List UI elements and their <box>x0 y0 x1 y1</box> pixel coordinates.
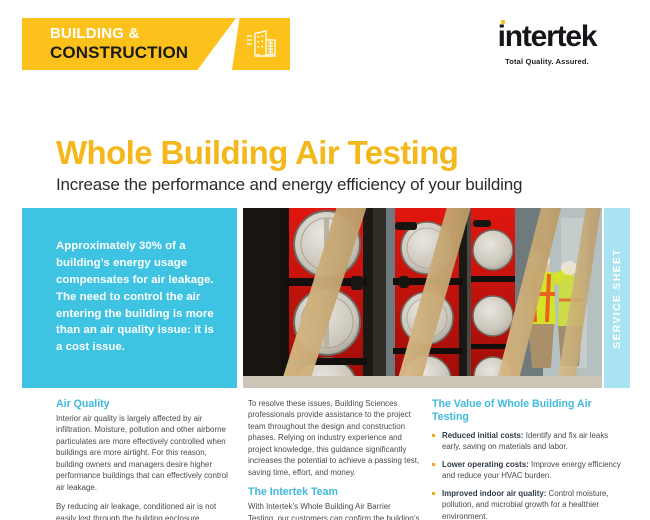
brand-line-2: CONSTRUCTION <box>50 43 236 62</box>
logo-tagline: Total Quality. Assured. <box>472 57 622 66</box>
column-1-paragraph-1: Interior air quality is largely affected… <box>56 413 236 493</box>
blower-door-photo-illustration <box>243 208 602 388</box>
column-1-paragraph-2: By reducing air leakage, conditioned air… <box>56 501 236 520</box>
content-columns: Air Quality Interior air quality is larg… <box>0 398 650 520</box>
page-title-block: Whole Building Air Testing Increase the … <box>56 136 616 194</box>
page-subtitle: Increase the performance and energy effi… <box>56 175 616 195</box>
value-bullet-item: Improved indoor air quality: Control moi… <box>432 488 622 520</box>
brand-line-1: BUILDING & <box>50 26 236 43</box>
column-intertek-team: To resolve these issues, Building Scienc… <box>248 398 432 520</box>
intertek-logo: intertek Total Quality. Assured. <box>472 22 622 66</box>
brand-banner: BUILDING & CONSTRUCTION <box>22 18 236 70</box>
column-2-heading: The Intertek Team <box>248 486 420 499</box>
hero-photo <box>243 208 602 388</box>
value-bullet-label: Lower operating costs: <box>442 460 529 469</box>
value-bullet-item: Lower operating costs: Improve energy ef… <box>432 459 622 482</box>
service-sheet-page: BUILDING & CONSTRUCTION <box>0 0 650 520</box>
feature-band: Approximately 30% of a building’s energy… <box>0 208 650 388</box>
column-air-quality: Air Quality Interior air quality is larg… <box>56 398 248 520</box>
page-header: BUILDING & CONSTRUCTION <box>0 0 650 92</box>
value-bullet-label: Improved indoor air quality: <box>442 489 546 498</box>
callout-text: Approximately 30% of a building’s energy… <box>56 238 219 356</box>
logo-dot-icon <box>501 20 505 24</box>
value-bullet-list: Reduced initial costs: Identify and fix … <box>432 430 622 520</box>
service-sheet-label: SERVICE SHEET <box>612 248 623 349</box>
logo-wordmark: intertek <box>498 20 597 53</box>
value-bullet-label: Reduced initial costs: <box>442 431 524 440</box>
column-value: The Value of Whole Building Air Testing … <box>432 398 622 520</box>
callout-box: Approximately 30% of a building’s energy… <box>22 208 237 388</box>
column-1-heading: Air Quality <box>56 398 236 411</box>
office-building-icon <box>232 18 290 70</box>
service-sheet-tab: SERVICE SHEET <box>604 208 630 388</box>
column-2-paragraph-2: With Intertek’s Whole Building Air Barri… <box>248 501 420 520</box>
column-2-paragraph-1: To resolve these issues, Building Scienc… <box>248 398 420 478</box>
page-title: Whole Building Air Testing <box>56 136 616 171</box>
column-3-heading: The Value of Whole Building Air Testing <box>432 398 622 424</box>
value-bullet-item: Reduced initial costs: Identify and fix … <box>432 430 622 453</box>
